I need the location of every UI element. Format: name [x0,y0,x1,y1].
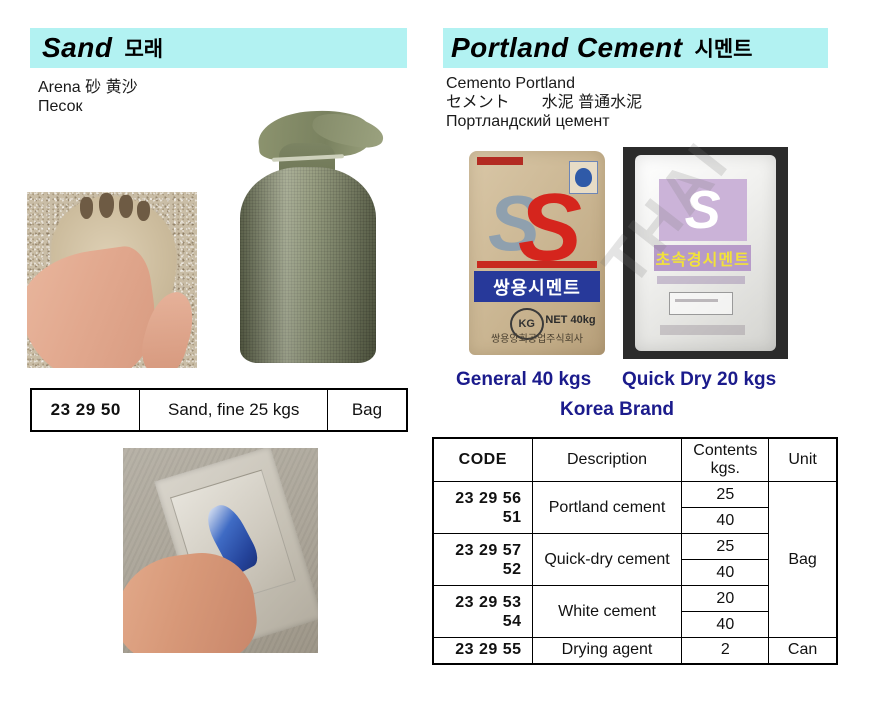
header-contents-line-2: kgs. [688,460,762,478]
sand-toes-shape [78,192,156,222]
sand-subtitle-line-1: Arena 砂 黄沙 [38,78,138,97]
bag-brand-text: 초속경시멘트 [655,246,749,270]
cement-contents-cell: 2 [682,638,769,664]
cement-subtitles: Cemento Portland セメント 水泥 普通水泥 Портландск… [446,74,642,131]
bag-net-weight-text: NET 40kg [545,314,595,326]
quick-dry-cement-caption: Quick Dry 20 kgs [622,369,776,391]
sand-subtitle-line-2: Песок [38,97,138,116]
header-contents: Contents kgs. [682,438,769,482]
cement-title-korean: 시멘트 [695,33,753,63]
cement-contents-cell: 40 [682,612,769,638]
cement-bag-body-shape: S 초속경시멘트 [635,155,777,350]
sand-code-cell: 23 29 50 [31,389,140,431]
quick-dry-cement-bag-photo: S 초속경시멘트 [623,147,788,359]
cement-unit-cell: Bag [769,482,837,638]
cement-code-cell: 23 29 53 54 [433,586,532,638]
cement-title-english: Portland Cement [451,32,683,64]
cement-bag-body-shape: S S 쌍용시멘트 KG NET 40kg 쌍용양회공업주식회사 [469,151,605,355]
cement-code-cell: 23 29 56 51 [433,482,532,534]
cement-contents-cell: 25 [682,482,769,508]
table-row: 23 29 56 51 Portland cement 25 Bag [433,482,837,508]
sandbag-photo [218,103,398,368]
plastering-trowel-photo [123,448,318,653]
cement-subtitle-line-2: セメント 水泥 普通水泥 [446,93,642,112]
cement-contents-cell: 25 [682,534,769,560]
bag-brand-text: 쌍용시멘트 [493,274,581,300]
cement-code-cell: 23 29 57 52 [433,534,532,586]
cement-price-table: CODE Description Contents kgs. Unit 23 2… [432,437,838,665]
catalog-page: Sand 모래 Arena 砂 黄沙 Песок 23 29 50 Sand, … [0,0,878,710]
bag-brand-band: 쌍용시멘트 [474,271,599,302]
bag-logo-panel: S [659,179,747,241]
bag-text-line-shape [657,276,745,284]
bag-red-line-shape [477,261,597,268]
cement-contents-cell: 40 [682,560,769,586]
code-line-2: 54 [440,612,522,631]
cement-code-cell: 23 29 55 [433,638,532,664]
cement-description-cell: White cement [532,586,682,638]
table-row: 23 29 55 Drying agent 2 Can [433,638,837,664]
code-line-1: 23 29 56 [440,489,522,508]
korea-brand-caption: Korea Brand [560,399,674,421]
cement-subtitle-line-3: Портландский цемент [446,112,642,131]
sand-title-english: Sand [42,32,112,64]
cement-subtitle-line-1: Cemento Portland [446,74,642,93]
general-cement-bag-photo: S S 쌍용시멘트 KG NET 40kg 쌍용양회공업주식회사 [463,147,611,359]
cement-unit-cell: Can [769,638,837,664]
bag-bottom-text-shape [660,325,745,335]
sandbag-body-shape [240,167,377,363]
cement-title-bar: Portland Cement 시멘트 [443,28,828,68]
sand-in-hand-photo [27,192,197,368]
sand-title-bar: Sand 모래 [30,28,407,68]
sand-description-cell: Sand, fine 25 kgs [140,389,327,431]
bag-manufacturer-text: 쌍용양회공업주식회사 [485,330,588,345]
code-line-2: 51 [440,508,522,527]
general-cement-caption: General 40 kgs [456,369,591,391]
sand-subtitles: Arena 砂 黄沙 Песок [38,78,138,116]
code-line-1: 23 29 57 [440,541,522,560]
sand-price-table: 23 29 50 Sand, fine 25 kgs Bag [30,388,408,432]
header-contents-line-1: Contents [688,442,762,460]
bag-top-stripe-shape [477,157,523,165]
code-line-1: 23 29 53 [440,593,522,612]
bag-brand-band: 초속경시멘트 [654,245,750,270]
bag-logo-letter: S [685,183,721,237]
sand-unit-cell: Bag [327,389,407,431]
cement-contents-cell: 40 [682,508,769,534]
header-description: Description [532,438,682,482]
cement-description-cell: Portland cement [532,482,682,534]
header-code: CODE [433,438,532,482]
cement-description-cell: Drying agent [532,638,682,664]
sand-title-korean: 모래 [124,33,163,63]
table-row: 23 29 50 Sand, fine 25 kgs Bag [31,389,407,431]
table-header-row: CODE Description Contents kgs. Unit [433,438,837,482]
cement-contents-cell: 20 [682,586,769,612]
bag-info-box-shape [669,292,733,315]
cement-description-cell: Quick-dry cement [532,534,682,586]
code-line-2: 52 [440,560,522,579]
header-unit: Unit [769,438,837,482]
